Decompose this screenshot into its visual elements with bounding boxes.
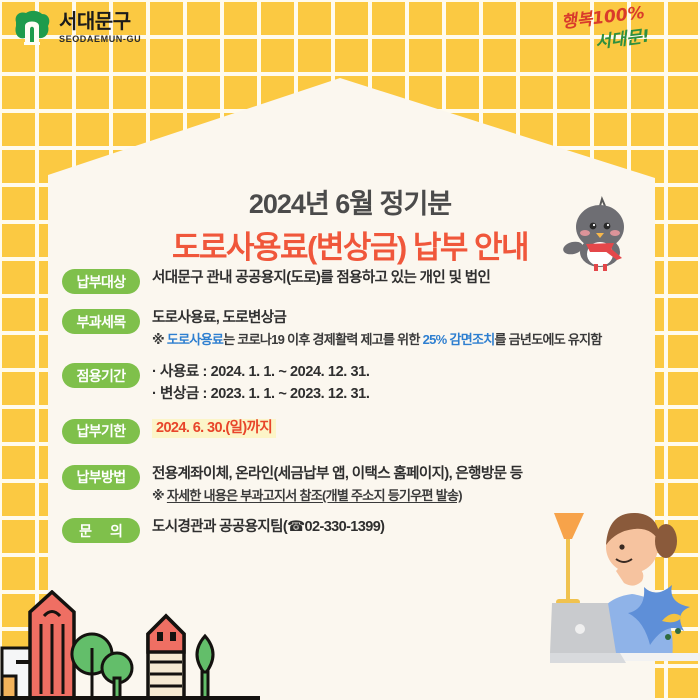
period-line-usage-fee: · 사용료 : 2024. 1. 1. ~ 2024. 12. 31. — [152, 362, 369, 384]
info-row-due-date: 납부기한 2024. 6. 30.(일)까지 — [62, 418, 662, 444]
poster-root: 서대문구 SEODAEMUN-GU 행복100% 서대문! 2024년 6월 정… — [0, 0, 700, 700]
logo-text: 서대문구 SEODAEMUN-GU — [59, 12, 141, 44]
info-row-payment-target: 납부대상 서대문구 관내 공공용지(도로)를 점용하고 있는 개인 및 법인 — [62, 268, 662, 294]
row-label-payment-method: 납부방법 — [62, 465, 140, 490]
info-row-tax-item: 부과세목 도로사용료, 도로변상금 ※ 도로사용료는 코로나19 이후 경제활력… — [62, 308, 662, 349]
row-note-tax-item: ※ 도로사용료는 코로나19 이후 경제활력 제고를 위한 25% 감면조치를 … — [152, 331, 602, 350]
gate-logo-icon — [12, 9, 52, 47]
contact-phone-number: 02-330-1399) — [305, 519, 385, 535]
poster-header: 서대문구 SEODAEMUN-GU 행복100% 서대문! — [0, 0, 700, 62]
row-label-due-date: 납부기한 — [62, 419, 140, 444]
gray-bird-mascot — [560, 196, 640, 272]
woman-at-laptop-illustration — [550, 485, 700, 700]
row-text-contact: 도시경관과 공공용지팀(☎02-330-1399) — [152, 517, 384, 538]
phone-icon: ☎ — [287, 519, 304, 535]
due-date-value: 2024. 6. 30.(일)까지 — [152, 419, 276, 438]
logo: 서대문구 SEODAEMUN-GU — [12, 9, 141, 47]
info-row-occupation-period: 점용기간 · 사용료 : 2024. 1. 1. ~ 2024. 12. 31.… — [62, 362, 662, 406]
note-underlined-text: 자세한 내용은 부과고지서 참조(개별 주소지 등기우편 발송) — [167, 488, 462, 503]
row-note-payment-method: ※ 자세한 내용은 부과고지서 참조(개별 주소지 등기우편 발송) — [152, 487, 523, 506]
slogan-mark: 행복100% 서대문! — [558, 6, 688, 54]
note-mark: ※ — [152, 332, 164, 347]
contact-department: 도시경관과 공공용지팀( — [152, 519, 287, 535]
row-label-tax-item: 부과세목 — [62, 309, 140, 334]
note-highlight-discount: 25% 감면조치 — [423, 332, 495, 347]
logo-english-name: SEODAEMUN-GU — [59, 35, 141, 44]
period-line-compensation: · 변상금 : 2023. 1. 1. ~ 2023. 12. 31. — [152, 384, 369, 406]
slogan-line2: 서대문! — [594, 26, 651, 53]
row-text-due-date-wrap: 2024. 6. 30.(일)까지 — [152, 418, 276, 439]
note-text-mid: 는 코로나19 이후 경제활력 제고를 위한 — [223, 332, 422, 347]
row-text-tax-item: 도로사용료, 도로변상금 — [152, 308, 602, 329]
row-text-payment-method: 전용계좌이체, 온라인(세금납부 앱, 이택스 홈페이지), 은행방문 등 — [152, 464, 523, 485]
note-highlight-road-fee: 도로사용료 — [167, 332, 223, 347]
note-mark-2: ※ — [152, 488, 164, 503]
row-text-payment-target: 서대문구 관내 공공용지(도로)를 점용하고 있는 개인 및 법인 — [152, 268, 490, 289]
city-skyline-illustration — [0, 590, 260, 700]
row-label-contact: 문 의 — [62, 518, 140, 543]
note-text-end: 를 금년도에도 유지함 — [495, 332, 602, 347]
row-label-payment-target: 납부대상 — [62, 269, 140, 294]
row-label-occupation-period: 점용기간 — [62, 363, 140, 388]
logo-korean-name: 서대문구 — [59, 12, 141, 32]
